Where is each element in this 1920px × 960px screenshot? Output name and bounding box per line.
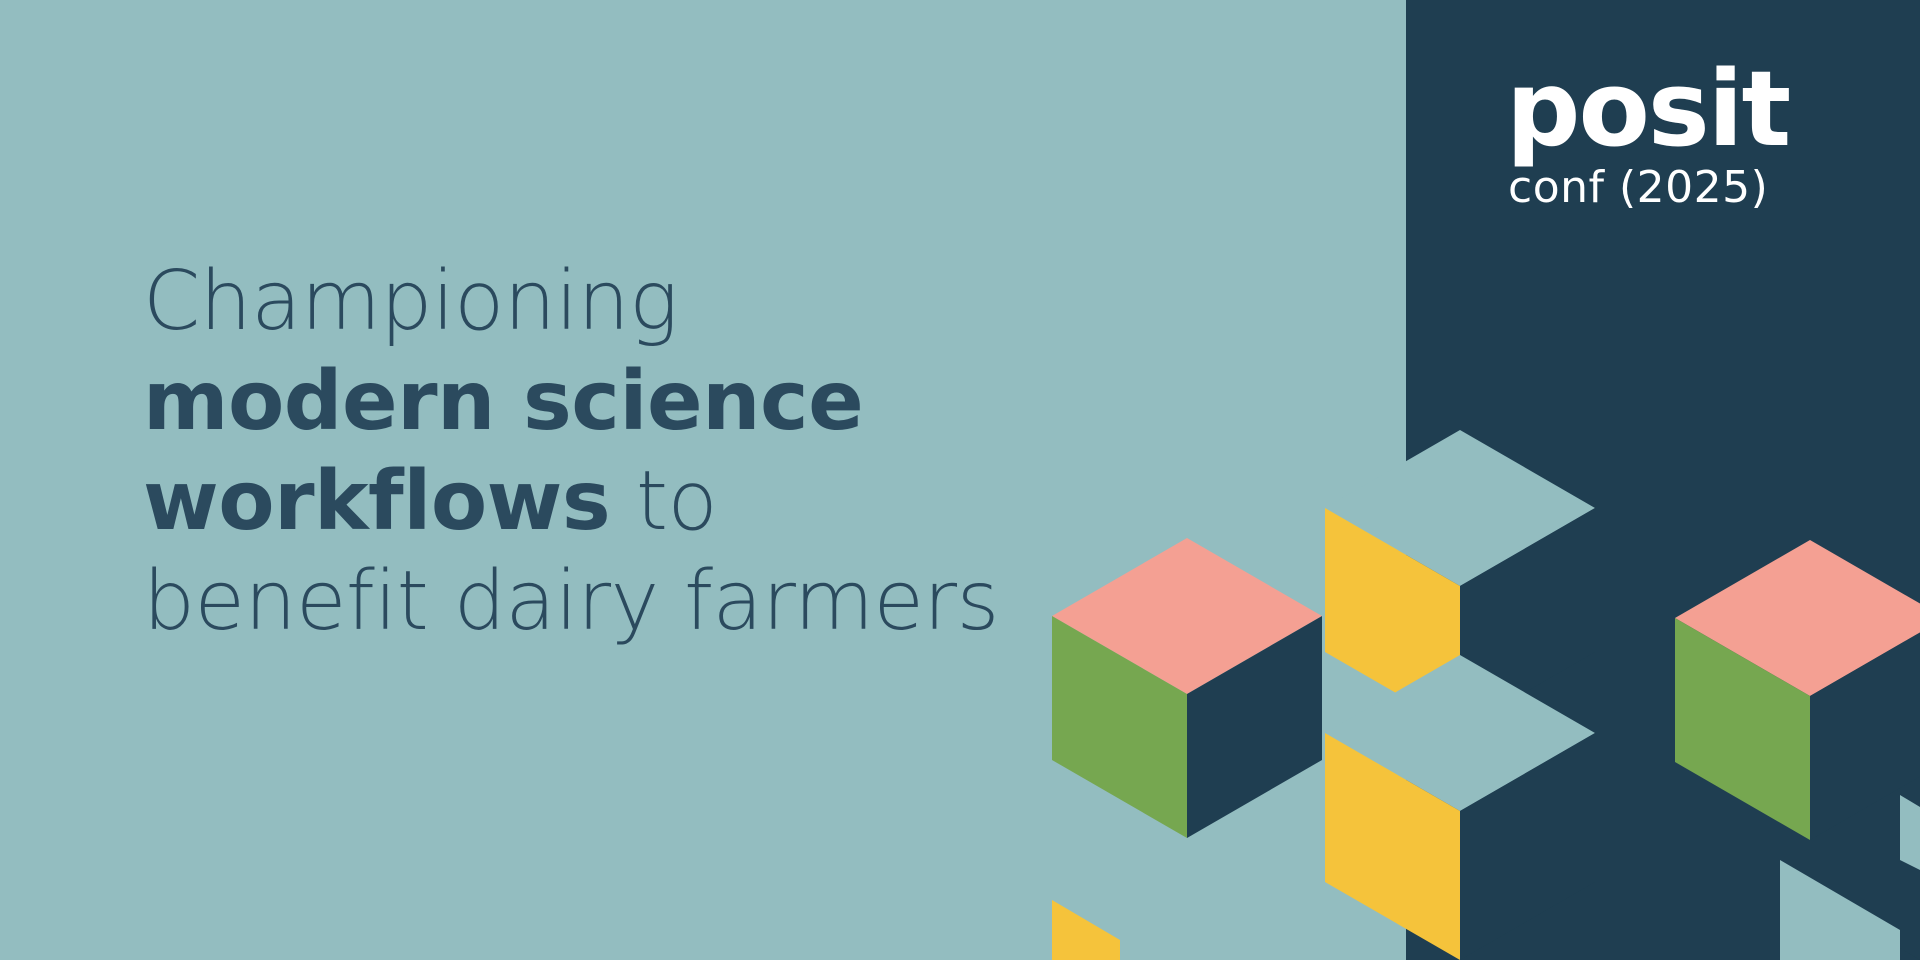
slide-canvas: posit conf (2025) Championing modern sci… xyxy=(0,0,1920,960)
posit-wordmark: posit xyxy=(1506,62,1886,158)
headline-line-1-text: Championing xyxy=(143,254,678,349)
cube-f-sliver xyxy=(1052,900,1120,960)
isometric-cube-artwork xyxy=(1020,400,1920,960)
conf-year-label: conf (2025) xyxy=(1508,166,1886,210)
headline-line-3-light-text: to xyxy=(610,454,717,549)
headline-line-4-text: benefit dairy farmers xyxy=(143,554,999,649)
posit-conf-logo: posit conf (2025) xyxy=(1506,62,1886,210)
cube-e-edge-face xyxy=(1900,795,1920,870)
headline-line-1: Championing xyxy=(143,252,1323,352)
headline-line-3-bold-text: workflows xyxy=(143,454,610,549)
headline-line-2-text: modern science xyxy=(143,354,863,449)
